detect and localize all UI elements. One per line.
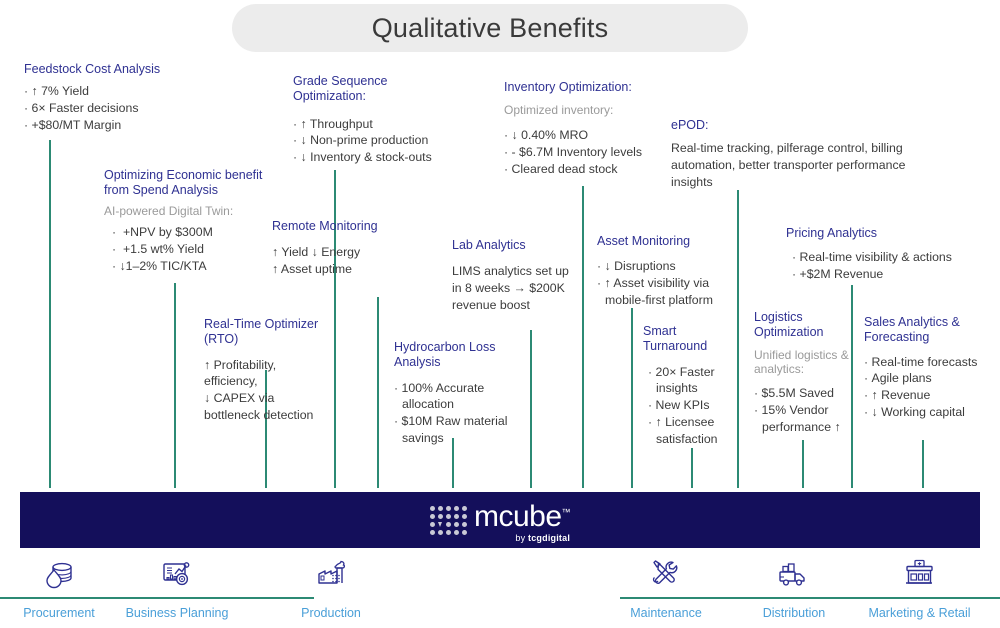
callout-body: Real-time tracking, pilferage control, b… bbox=[671, 140, 921, 191]
tools-wrench-screwdriver-icon bbox=[607, 552, 725, 596]
connector-line-lab-analytics bbox=[530, 330, 532, 488]
value-chain-row: Procurement Business Planning bbox=[0, 552, 1000, 628]
delivery-truck-icon bbox=[735, 552, 853, 596]
callout-list: ↑ Yield ↓ Energy ↑ Asset uptime bbox=[272, 244, 382, 278]
callout-body: LIMS analytics set up in 8 weeks → $200K… bbox=[452, 263, 572, 314]
callout-epod: ePOD: Real-time tracking, pilferage cont… bbox=[671, 118, 921, 191]
logo-wordmark: mcube™ bbox=[474, 497, 570, 532]
callout-list: · +NPV by $300M · +1.5 wt% Yield · ↓1–2%… bbox=[104, 224, 279, 275]
callout-list: ↑ Profitability, efficiency, ↓ CAPEX via… bbox=[204, 357, 344, 425]
list-item: · ↑ Licensee satisfaction bbox=[648, 414, 728, 448]
dot-matrix-icon bbox=[430, 506, 467, 535]
callout-heading: Logistics Optimization bbox=[754, 310, 854, 340]
list-item: · 20× Faster insights bbox=[648, 364, 728, 398]
callout-heading: Lab Analytics bbox=[452, 238, 572, 253]
callout-list: · Real-time visibility & actions · +$2M … bbox=[786, 249, 986, 283]
analytics-dashboard-icon bbox=[118, 552, 236, 596]
trademark-symbol: ™ bbox=[562, 507, 571, 517]
callout-sales-analytics-forecasting: Sales Analytics & Forecasting · Real-tim… bbox=[864, 315, 989, 421]
list-item: ↑ Yield ↓ Energy bbox=[272, 244, 382, 261]
callout-lab-analytics: Lab Analytics LIMS analytics set up in 8… bbox=[452, 238, 572, 314]
callout-heading: Grade Sequence Optimization: bbox=[293, 74, 458, 104]
callout-hydrocarbon-loss-analysis: Hydrocarbon Loss Analysis · 100% Accurat… bbox=[394, 340, 529, 447]
value-chain-item-production[interactable]: Production bbox=[272, 552, 390, 620]
infographic-canvas: Qualitative Benefits Feedstock Cost Anal… bbox=[0, 0, 1000, 628]
callout-heading: Feedstock Cost Analysis bbox=[24, 62, 204, 77]
callout-grade-sequence-optimization: Grade Sequence Optimization: · ↑ Through… bbox=[293, 74, 458, 166]
connector-line-smart-turnaround bbox=[691, 448, 693, 488]
callout-heading: Asset Monitoring bbox=[597, 234, 727, 249]
callout-smart-turnaround: Smart Turnaround · 20× Faster insights ·… bbox=[643, 324, 728, 448]
list-item: · ↓ 0.40% MRO bbox=[504, 127, 669, 144]
callout-list: · ↓ 0.40% MRO · - $6.7M Inventory levels… bbox=[504, 127, 669, 178]
platform-bar: mcube™ by tcgdigital bbox=[20, 492, 980, 548]
factory-icon bbox=[272, 552, 390, 596]
value-chain-item-business-planning[interactable]: Business Planning bbox=[118, 552, 236, 620]
oil-barrel-icon bbox=[0, 552, 118, 596]
list-item: · Real-time forecasts bbox=[864, 354, 989, 371]
connector-line-inventory-optimization bbox=[582, 186, 584, 488]
list-item: · ↑ Revenue bbox=[864, 387, 989, 404]
connector-line-asset-monitoring bbox=[631, 308, 633, 488]
list-item: · 100% Accurate allocation bbox=[394, 380, 529, 414]
list-item: · Agile plans bbox=[864, 370, 989, 387]
callout-pricing-analytics: Pricing Analytics · Real-time visibility… bbox=[786, 226, 986, 283]
callout-heading: Sales Analytics & Forecasting bbox=[864, 315, 989, 345]
callout-list: · 100% Accurate allocation · $10M Raw ma… bbox=[394, 380, 529, 448]
callout-heading: Hydrocarbon Loss Analysis bbox=[394, 340, 529, 370]
list-item: · ↓ Non-prime production bbox=[293, 132, 458, 149]
logo-byline: by tcgdigital bbox=[515, 533, 570, 543]
callout-list: · 20× Faster insights · New KPIs · ↑ Lic… bbox=[643, 364, 728, 449]
connector-line-spend-analysis bbox=[174, 283, 176, 488]
callout-inventory-optimization: Inventory Optimization: Optimized invent… bbox=[504, 80, 669, 178]
value-chain-item-maintenance[interactable]: Maintenance bbox=[607, 552, 725, 620]
list-item: · $10M Raw material savings bbox=[394, 413, 529, 447]
value-chain-label: Business Planning bbox=[118, 606, 236, 620]
callout-asset-monitoring: Asset Monitoring · ↓ Disruptions · ↑ Ass… bbox=[597, 234, 727, 309]
list-item: · Real-time visibility & actions bbox=[792, 249, 986, 266]
list-item: · ↓ Disruptions bbox=[597, 258, 727, 275]
connector-line-feedstock bbox=[49, 140, 51, 488]
list-item: · +$80/MT Margin bbox=[24, 117, 204, 134]
callout-list: · ↑ 7% Yield · 6× Faster decisions · +$8… bbox=[24, 83, 204, 134]
callout-heading: Real-Time Optimizer (RTO) bbox=[204, 317, 344, 347]
list-item: · Cleared dead stock bbox=[504, 161, 669, 178]
list-item: · ↑ 7% Yield bbox=[24, 83, 204, 100]
value-chain-label: Distribution bbox=[735, 606, 853, 620]
list-item: ↓ CAPEX via bbox=[204, 390, 344, 407]
value-chain-item-procurement[interactable]: Procurement bbox=[0, 552, 118, 620]
list-item: ↑ Asset uptime bbox=[272, 261, 382, 278]
callout-subheading: Unified logistics & analytics: bbox=[754, 348, 854, 377]
callout-list: · $5.5M Saved · 15% Vendor performance ↑ bbox=[754, 385, 854, 436]
list-item: · $5.5M Saved bbox=[754, 385, 854, 402]
callout-subheading: Optimized inventory: bbox=[504, 103, 669, 117]
callout-heading: ePOD: bbox=[671, 118, 921, 133]
callout-list: · Real-time forecasts · Agile plans · ↑ … bbox=[864, 354, 989, 422]
logo-text: mcube™ by tcgdigital bbox=[474, 497, 570, 543]
value-chain-label: Procurement bbox=[0, 606, 118, 620]
list-item: · ↓1–2% TIC/KTA bbox=[112, 258, 279, 275]
value-chain-item-marketing-retail[interactable]: Marketing & Retail bbox=[853, 552, 986, 620]
callout-list: · ↓ Disruptions · ↑ Asset visibility via… bbox=[597, 258, 727, 309]
list-item: · New KPIs bbox=[648, 397, 728, 414]
connector-line-remote-monitoring bbox=[377, 297, 379, 488]
list-item: · ↓ Inventory & stock-outs bbox=[293, 149, 458, 166]
callout-real-time-optimizer: Real-Time Optimizer (RTO) ↑ Profitabilit… bbox=[204, 317, 344, 424]
list-item: bottleneck detection bbox=[204, 407, 344, 424]
connector-line-sales-analytics bbox=[922, 440, 924, 488]
list-item: efficiency, bbox=[204, 373, 344, 390]
list-item: · ↑ Throughput bbox=[293, 116, 458, 133]
list-item: · 6× Faster decisions bbox=[24, 100, 204, 117]
list-item: ↑ Profitability, bbox=[204, 357, 344, 374]
page-title-text: Qualitative Benefits bbox=[372, 13, 609, 44]
mcube-logo: mcube™ by tcgdigital bbox=[20, 492, 980, 548]
callout-logistics-optimization: Logistics Optimization Unified logistics… bbox=[754, 310, 854, 436]
value-chain-label: Maintenance bbox=[607, 606, 725, 620]
callout-heading: Pricing Analytics bbox=[786, 226, 986, 241]
list-item: · +1.5 wt% Yield bbox=[112, 241, 279, 258]
list-item: · +NPV by $300M bbox=[112, 224, 279, 241]
callout-feedstock-cost-analysis: Feedstock Cost Analysis · ↑ 7% Yield · 6… bbox=[24, 62, 204, 134]
value-chain-item-distribution[interactable]: Distribution bbox=[735, 552, 853, 620]
list-item: · ↑ Asset visibility via mobile-first pl… bbox=[597, 275, 727, 309]
connector-line-epod bbox=[737, 190, 739, 488]
storefront-icon bbox=[853, 552, 986, 596]
connector-line-logistics-optimization bbox=[802, 440, 804, 488]
callout-remote-monitoring: Remote Monitoring ↑ Yield ↓ Energy ↑ Ass… bbox=[272, 219, 382, 278]
callout-subheading: AI-powered Digital Twin: bbox=[104, 204, 279, 218]
list-item: · ↓ Working capital bbox=[864, 404, 989, 421]
callout-heading: Remote Monitoring bbox=[272, 219, 382, 234]
callout-list: · ↑ Throughput · ↓ Non-prime production … bbox=[293, 116, 458, 167]
list-item: · 15% Vendor performance ↑ bbox=[754, 402, 854, 436]
callout-heading: Optimizing Economic benefit from Spend A… bbox=[104, 168, 279, 198]
callout-optimizing-economic-benefit: Optimizing Economic benefit from Spend A… bbox=[104, 168, 279, 275]
callout-heading: Inventory Optimization: bbox=[504, 80, 669, 95]
list-item: · - $6.7M Inventory levels bbox=[504, 144, 669, 161]
list-item: · +$2M Revenue bbox=[792, 266, 986, 283]
page-title: Qualitative Benefits bbox=[232, 4, 748, 52]
value-chain-label: Marketing & Retail bbox=[853, 606, 986, 620]
callout-heading: Smart Turnaround bbox=[643, 324, 728, 354]
value-chain-label: Production bbox=[272, 606, 390, 620]
